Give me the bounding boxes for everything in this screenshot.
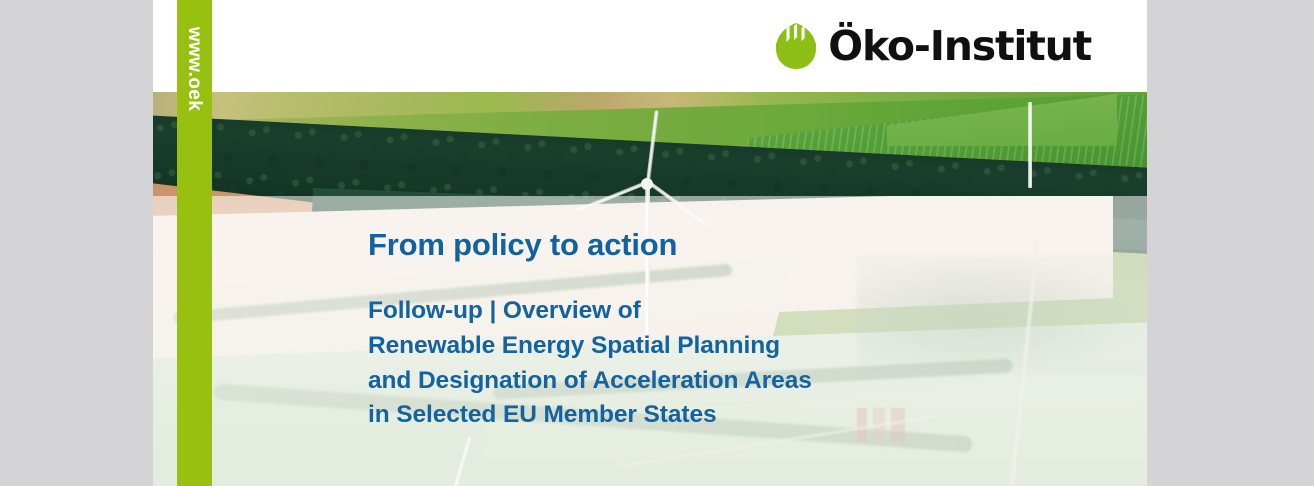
title-block: From policy to action Follow-up | Overvi… — [368, 228, 988, 433]
sidebar-url-label: www.oek — [184, 27, 206, 111]
page-title: From policy to action — [368, 228, 988, 262]
page-subtitle: Follow-up | Overview of Renewable Energy… — [368, 294, 988, 433]
subtitle-line-4: in Selected EU Member States — [368, 398, 988, 433]
cover-page: Öko-Institut www.oek From policy to acti… — [153, 0, 1147, 486]
subtitle-line-3: and Designation of Acceleration Areas — [368, 364, 988, 399]
turbine-blade — [647, 180, 709, 227]
logo[interactable]: Öko-Institut — [776, 20, 1091, 72]
sidebar-url[interactable]: www.oek — [177, 4, 212, 244]
subtitle-line-2: Renewable Energy Spatial Planning — [368, 329, 988, 364]
turbine-hub — [641, 178, 653, 190]
oeko-institut-leaf-icon — [776, 23, 816, 69]
header-band: Öko-Institut — [153, 0, 1147, 92]
subtitle-line-1: Follow-up | Overview of — [368, 294, 988, 329]
green-spine-bar: www.oek — [177, 0, 212, 486]
wind-turbine-icon-left — [401, 450, 521, 486]
wind-turbine-icon-far — [1019, 92, 1043, 188]
document-viewer[interactable]: Öko-Institut www.oek From policy to acti… — [0, 0, 1314, 486]
turbine-tower — [1028, 102, 1032, 188]
logo-wordmark: Öko-Institut — [828, 26, 1091, 67]
